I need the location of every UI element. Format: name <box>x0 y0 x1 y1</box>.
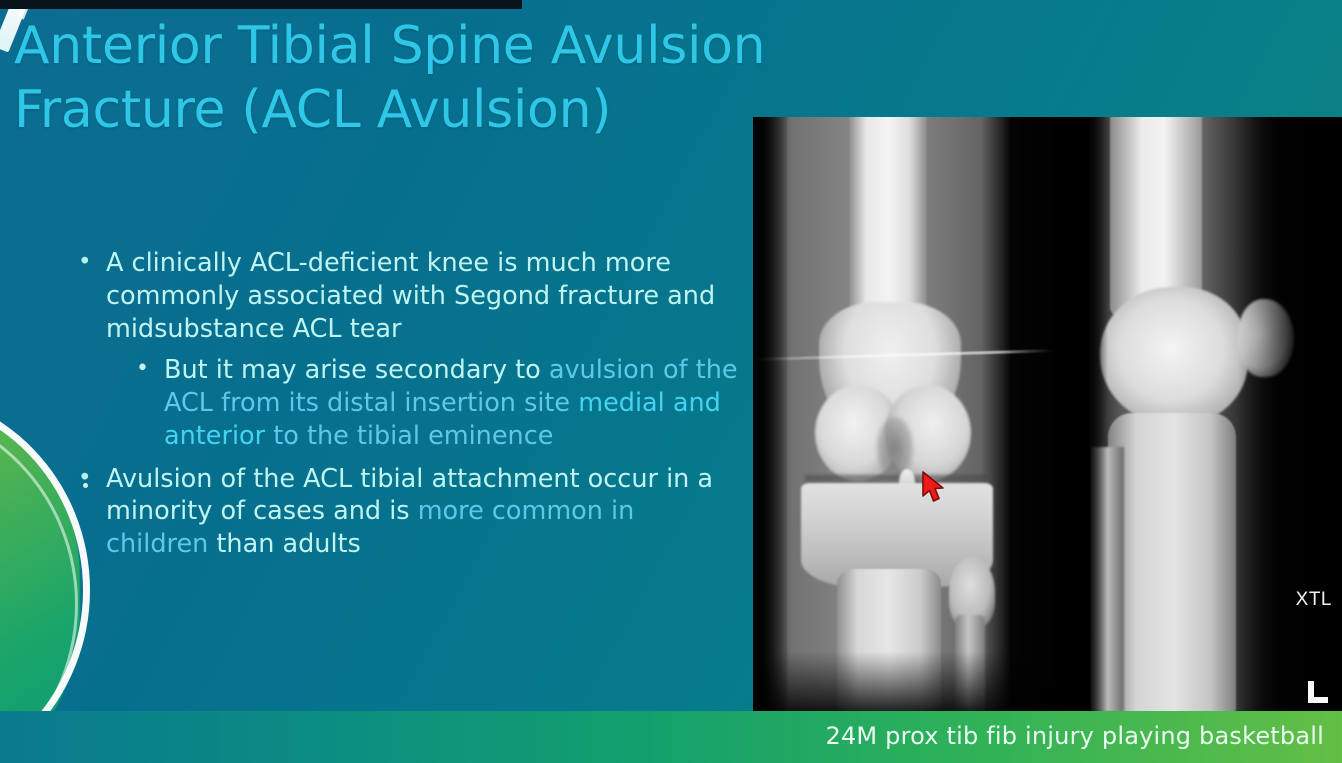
sub-bullet-marker: • <box>136 355 149 383</box>
lateral-vignette-left <box>1088 117 1108 711</box>
bullet-3-text-part-3: than adults <box>216 529 360 559</box>
bullet-item-1: • A clinically ACL-deficient knee is muc… <box>66 247 738 345</box>
panel-vignette-right <box>1003 117 1088 711</box>
ap-knee-radiograph-panel <box>753 117 1088 711</box>
panel-vignette-bottom <box>753 651 1088 711</box>
laterality-marker-icon <box>1308 681 1328 703</box>
lateral-femoral-condyles <box>1100 287 1248 425</box>
bullet-2-text-part-4: to the tibial eminence <box>273 421 553 451</box>
red-cursor-arrow-icon <box>921 470 947 504</box>
xray-overlay-label: XTL <box>1296 589 1332 611</box>
lateral-vignette-right <box>1238 117 1342 711</box>
bullet-1-text: A clinically ACL-deficient knee is much … <box>106 248 715 344</box>
bullet-marker: • <box>78 464 92 493</box>
slide-title-line-2: Fracture (ACL Avulsion) <box>14 78 874 142</box>
bullet-2-text-part-1: But it may arise secondary to <box>164 355 549 385</box>
slide-title: Anterior Tibial Spine Avulsion Fracture … <box>14 14 874 143</box>
lateral-tibia <box>1108 413 1236 711</box>
bullet-item-2: • But it may arise secondary to avulsion… <box>66 354 738 452</box>
slide-title-line-1: Anterior Tibial Spine Avulsion <box>14 14 874 78</box>
bullet-item-3: • Avulsion of the ACL tibial attachment … <box>66 463 738 561</box>
panel-vignette-left <box>753 117 787 711</box>
presentation-slide: Anterior Tibial Spine Avulsion Fracture … <box>0 0 1342 763</box>
panel-divider <box>1088 117 1090 711</box>
image-caption: 24M prox tib fib injury playing basketba… <box>825 722 1324 750</box>
lateral-knee-radiograph-panel <box>1088 117 1342 711</box>
top-black-bar <box>0 0 522 9</box>
radiograph-image: XTL <box>753 117 1342 711</box>
slide-body: • A clinically ACL-deficient knee is muc… <box>66 247 738 569</box>
bullet-marker: • <box>78 248 92 277</box>
